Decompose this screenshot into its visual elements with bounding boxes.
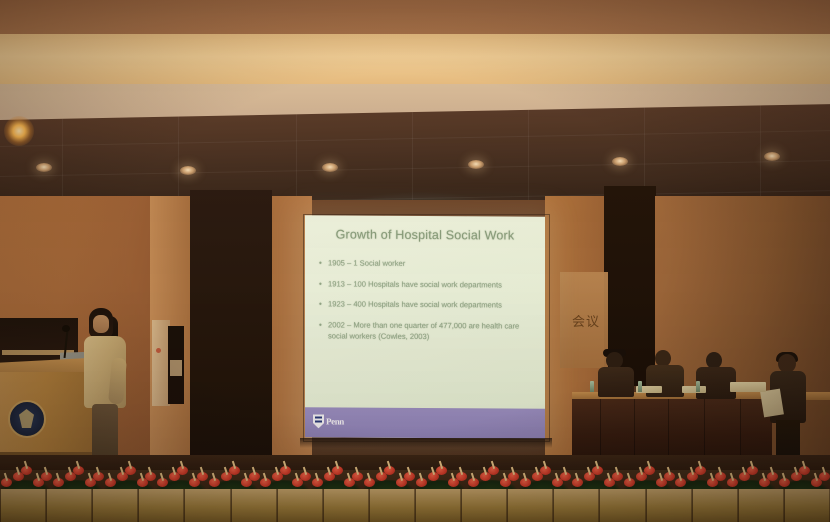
held-document bbox=[760, 389, 784, 418]
conference-hall-photo: 会议 Growth of Hospital Social Work • 1905… bbox=[0, 0, 830, 522]
flower-pot bbox=[415, 489, 461, 522]
projection-screen-shadow bbox=[300, 438, 552, 448]
bullet-marker-icon: • bbox=[319, 257, 328, 269]
water-bottle bbox=[590, 381, 594, 392]
water-bottle bbox=[638, 381, 642, 392]
presentation-slide: Growth of Hospital Social Work • 1905 – … bbox=[305, 215, 545, 438]
slide-bullet-item: • 2002 – More than one quarter of 477,00… bbox=[319, 319, 535, 343]
ceiling-band-upper bbox=[0, 0, 830, 34]
bullet-marker-icon: • bbox=[319, 298, 328, 310]
penn-wordmark: Penn bbox=[326, 416, 344, 426]
flower-pot bbox=[369, 489, 415, 522]
wall-lamp-glow-icon bbox=[4, 116, 34, 146]
projection-screen: Growth of Hospital Social Work • 1905 – … bbox=[305, 215, 545, 438]
ceiling-band-cream-lit bbox=[0, 34, 830, 84]
flower-pot bbox=[184, 489, 230, 522]
flower-pot bbox=[231, 489, 277, 522]
slide-title: Growth of Hospital Social Work bbox=[305, 227, 545, 242]
table-nameplate bbox=[730, 382, 766, 392]
exit-indicator-icon bbox=[156, 348, 161, 353]
slide-bullet-item: • 1923 – 400 Hospitals have social work … bbox=[319, 298, 535, 311]
banner-chinese-characters: 会议 bbox=[566, 316, 606, 329]
wall-dark-panel-left bbox=[190, 190, 272, 460]
microphone-icon bbox=[62, 325, 70, 332]
ceiling-downlight-icon bbox=[764, 152, 780, 161]
presenter-at-podium bbox=[80, 308, 134, 468]
slide-footer-bar: Penn bbox=[305, 407, 545, 438]
flower-pot bbox=[692, 489, 738, 522]
slide-bullet-text: 1905 – 1 Social worker bbox=[328, 257, 535, 270]
flower-pot-row bbox=[0, 489, 830, 522]
flower-pot bbox=[138, 489, 184, 522]
ceiling-downlight-icon bbox=[322, 163, 338, 172]
flower-pot bbox=[92, 489, 138, 522]
slide-bullet-text: 1913 – 100 Hospitals have social work de… bbox=[328, 278, 535, 291]
slide-bullet-item: • 1905 – 1 Social worker bbox=[319, 257, 535, 270]
table-papers bbox=[682, 386, 706, 393]
presenter-face bbox=[93, 315, 109, 333]
bullet-marker-icon: • bbox=[319, 319, 328, 342]
flower-pot bbox=[461, 489, 507, 522]
slide-bullet-text: 1923 – 400 Hospitals have social work de… bbox=[328, 298, 535, 311]
bullet-marker-icon: • bbox=[319, 278, 328, 290]
flower-pot bbox=[323, 489, 369, 522]
flower-pot bbox=[599, 489, 645, 522]
panelist-1-torso bbox=[598, 367, 634, 397]
slide-bullet-text: 2002 – More than one quarter of 477,000 … bbox=[328, 319, 535, 343]
slide-bullet-list: • 1905 – 1 Social worker • 1913 – 100 Ho… bbox=[319, 257, 535, 352]
standing-person-reading bbox=[766, 354, 812, 466]
podium-institutional-seal bbox=[8, 400, 46, 438]
flower-pot bbox=[553, 489, 599, 522]
flower-pot bbox=[738, 489, 784, 522]
flower-pot bbox=[784, 489, 830, 522]
ceiling-downlight-icon bbox=[36, 163, 52, 172]
flower-pot bbox=[277, 489, 323, 522]
flower-pot bbox=[646, 489, 692, 522]
flower-pot bbox=[46, 489, 92, 522]
penn-logo: Penn bbox=[313, 414, 344, 428]
water-bottle bbox=[696, 381, 700, 392]
flower-pot bbox=[507, 489, 553, 522]
ceiling-downlight-icon bbox=[612, 157, 628, 166]
slide-bullet-item: • 1913 – 100 Hospitals have social work … bbox=[319, 278, 535, 291]
door-push-plate[interactable] bbox=[170, 360, 182, 376]
ceiling-downlight-icon bbox=[468, 160, 484, 169]
penn-shield-icon bbox=[313, 414, 324, 428]
ceiling-downlight-icon bbox=[180, 166, 196, 175]
flower-pot bbox=[0, 489, 46, 522]
panelist-1 bbox=[596, 352, 638, 396]
